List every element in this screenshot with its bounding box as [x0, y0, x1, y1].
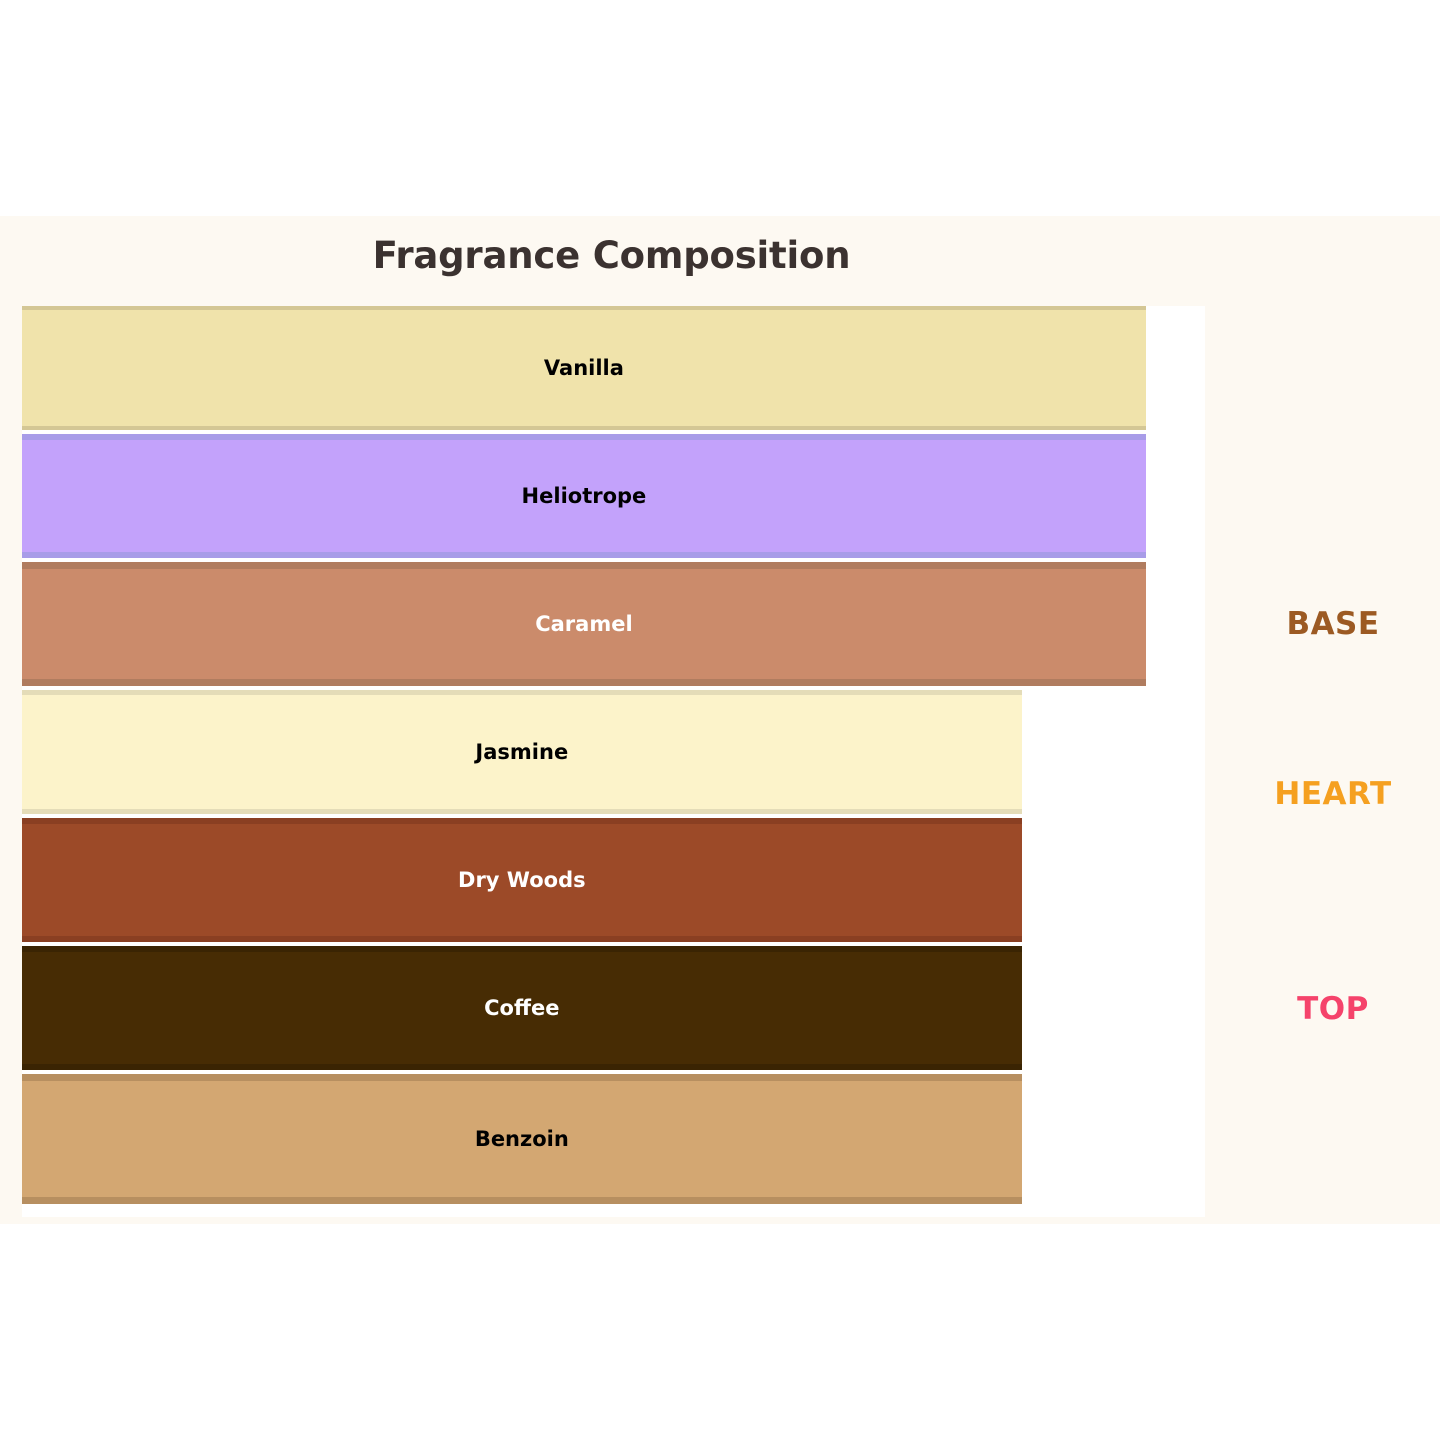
stage-label-base: BASE — [1226, 606, 1440, 642]
bar-row-vanilla: Vanilla — [22, 306, 1205, 430]
bar-jasmine[interactable] — [22, 690, 1022, 814]
bar-coffee[interactable] — [22, 946, 1022, 1070]
stage-label-top: TOP — [1226, 991, 1440, 1027]
bar-heliotrope[interactable] — [22, 434, 1146, 558]
bar-row-jasmine: Jasmine — [22, 690, 1205, 814]
bar-row-coffee: Coffee — [22, 946, 1205, 1070]
plot-area: Vanilla Heliotrope Caramel Jasmine Dry W… — [22, 306, 1205, 1217]
stage-label-heart: HEART — [1226, 776, 1440, 812]
bar-benzoin[interactable] — [22, 1074, 1022, 1204]
chart-title: Fragrance Composition — [0, 234, 1223, 277]
bar-row-heliotrope: Heliotrope — [22, 434, 1205, 558]
bar-row-caramel: Caramel — [22, 562, 1205, 686]
bar-row-dry-woods: Dry Woods — [22, 818, 1205, 942]
bar-dry-woods[interactable] — [22, 818, 1022, 942]
chart-figure: Fragrance Composition Vanilla Heliotrope… — [0, 216, 1440, 1224]
bar-vanilla[interactable] — [22, 306, 1146, 430]
bar-caramel[interactable] — [22, 562, 1146, 686]
bar-row-benzoin: Benzoin — [22, 1074, 1205, 1204]
